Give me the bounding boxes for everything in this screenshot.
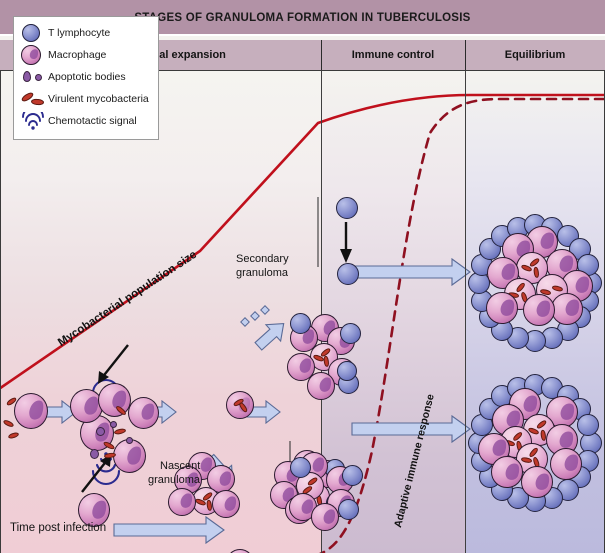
recruitment-arrow-top [98, 345, 128, 384]
stage-header-equilibrium: Equilibrium [465, 40, 605, 70]
t-lymphocyte-icon [20, 23, 48, 43]
process-arrow-dissemination-up [251, 315, 291, 354]
legend-item-virulent-mycobacteria: Virulent mycobacteria [20, 88, 152, 110]
legend-label-t-lymphocyte: T lymphocyte [48, 27, 110, 39]
stage-header-divider-2 [465, 40, 466, 70]
nascent-granuloma-label-line1: Nascent [160, 460, 200, 473]
apoptotic-body-2 [110, 421, 117, 428]
legend-item-apoptotic-bodies: Apoptotic bodies [20, 66, 152, 88]
legend-box: T lymphocyte Macrophage Apoptotic bodies… [13, 16, 159, 140]
macrophage-initial [14, 393, 48, 429]
apoptotic-bodies-icon [20, 67, 48, 87]
macrophage-cluster-4 [128, 397, 159, 429]
legend-label-virulent-mycobacteria: Virulent mycobacteria [48, 93, 149, 105]
apoptotic-trail-upper [241, 306, 269, 326]
time-axis-arrow [114, 517, 224, 543]
figure-stages-of-granuloma-formation: STAGES OF GRANULOMA FORMATION IN TUBERCU… [0, 0, 605, 553]
legend-item-macrophage: Macrophage [20, 44, 152, 66]
lymphocyte-recruitment-arrow [340, 222, 352, 263]
legend-label-apoptotic-bodies: Apoptotic bodies [48, 71, 126, 83]
diagram-body: Mycobacterial population size Adaptive i… [0, 70, 605, 553]
adaptive-immune-response-curve [300, 99, 605, 553]
time-post-infection-label: Time post infection [10, 522, 106, 535]
recruitment-arrow-bottom [82, 454, 111, 492]
apoptotic-body-4 [126, 437, 133, 444]
secondary-granuloma-label-line1: Secondary [236, 253, 289, 266]
chemotactic-signal-icon [20, 111, 48, 131]
arriving-t-lymphocyte[interactable] [337, 263, 359, 285]
panel-divider-2 [465, 71, 466, 553]
secondary-granuloma-label-line2: granuloma [236, 267, 288, 280]
stage-header-divider-1 [321, 40, 322, 70]
legend-item-chemotactic-signal: Chemotactic signal [20, 110, 152, 132]
panel-divider-1 [321, 71, 322, 553]
stage-header-immune-control: Immune control [321, 40, 465, 70]
process-arrow-long-top [352, 259, 470, 285]
legend-label-chemotactic-signal: Chemotactic signal [48, 115, 137, 127]
apoptotic-body-1 [96, 427, 105, 436]
process-arrow-long-bottom [352, 416, 470, 442]
curves-layer [0, 71, 605, 553]
macrophage-icon [20, 45, 48, 65]
nascent-granuloma-label-line2: granuloma [148, 474, 200, 487]
legend-item-t-lymphocyte: T lymphocyte [20, 22, 152, 44]
legend-label-macrophage: Macrophage [48, 49, 106, 61]
arriving-t-lymphocyte-2[interactable] [337, 361, 357, 381]
macrophage-cluster-5 [113, 439, 146, 473]
apoptotic-body-3 [90, 449, 99, 459]
virulent-mycobacteria-icon [20, 89, 48, 109]
incoming-t-lymphocyte-top[interactable] [336, 197, 358, 219]
